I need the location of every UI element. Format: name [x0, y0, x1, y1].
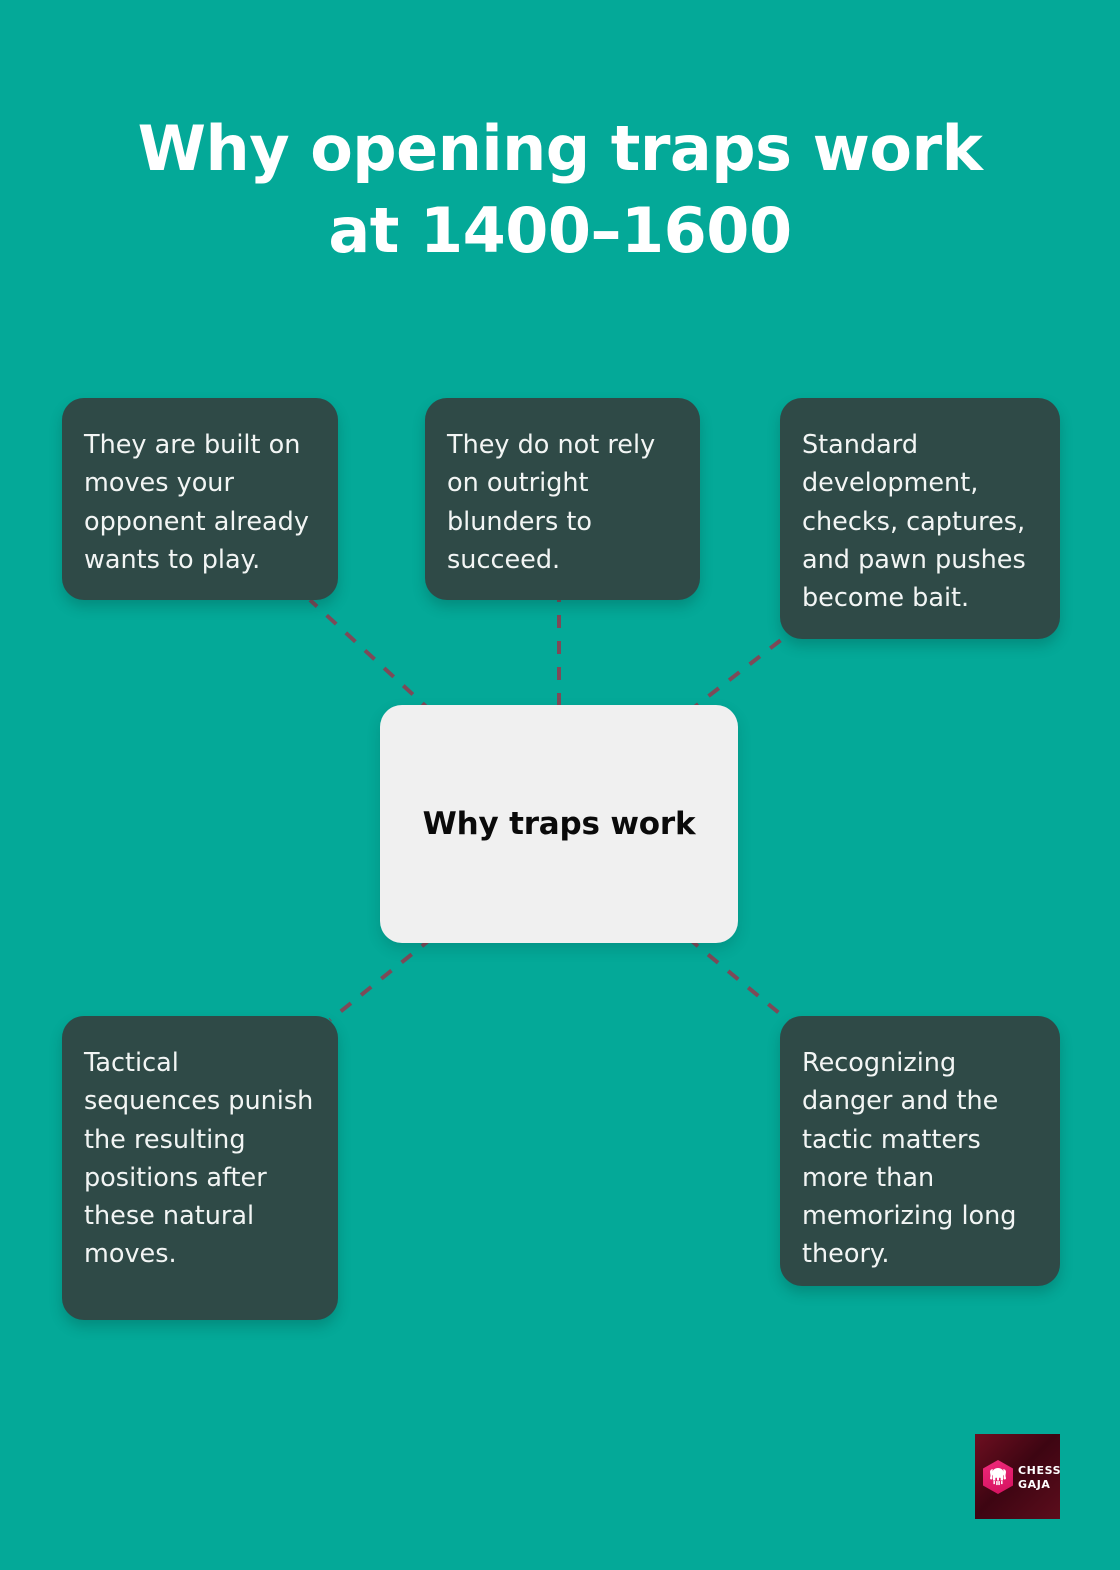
logo-chess-text: CHESS — [1018, 1464, 1060, 1477]
leaf-node-text: Recognizing danger and the tactic matter… — [802, 1044, 1038, 1274]
leaf-node-bottom-right[interactable]: Recognizing danger and the tactic matter… — [780, 1016, 1060, 1286]
leaf-node-top-right[interactable]: Standard development, checks, captures, … — [780, 398, 1060, 639]
connector-to-leaf-0 — [310, 600, 432, 712]
leaf-node-text: They do not rely on outright blunders to… — [447, 426, 678, 579]
center-node[interactable]: Why traps work — [380, 705, 738, 943]
leaf-node-text: They are built on moves your opponent al… — [84, 426, 316, 579]
leaf-node-text: Standard development, checks, captures, … — [802, 426, 1038, 617]
elephant-icon — [983, 1460, 1013, 1494]
connector-to-leaf-3 — [330, 938, 432, 1020]
leaf-node-top-center[interactable]: They do not rely on outright blunders to… — [425, 398, 700, 600]
leaf-node-top-left[interactable]: They are built on moves your opponent al… — [62, 398, 338, 600]
logo-word-top: CHESS® — [1018, 1465, 1060, 1476]
infographic-canvas: Why opening traps work at 1400–1600 They… — [0, 0, 1120, 1570]
page-title: Why opening traps work at 1400–1600 — [100, 108, 1020, 272]
connector-to-leaf-4 — [688, 938, 790, 1022]
leaf-node-bottom-left[interactable]: Tactical sequences punish the resulting … — [62, 1016, 338, 1320]
center-node-label: Why traps work — [423, 806, 696, 842]
brand-logo[interactable]: CHESS® GAJA — [975, 1434, 1060, 1519]
logo-word-bottom: GAJA — [1018, 1479, 1060, 1490]
leaf-node-text: Tactical sequences punish the resulting … — [84, 1044, 316, 1274]
connector-to-leaf-2 — [688, 633, 790, 712]
